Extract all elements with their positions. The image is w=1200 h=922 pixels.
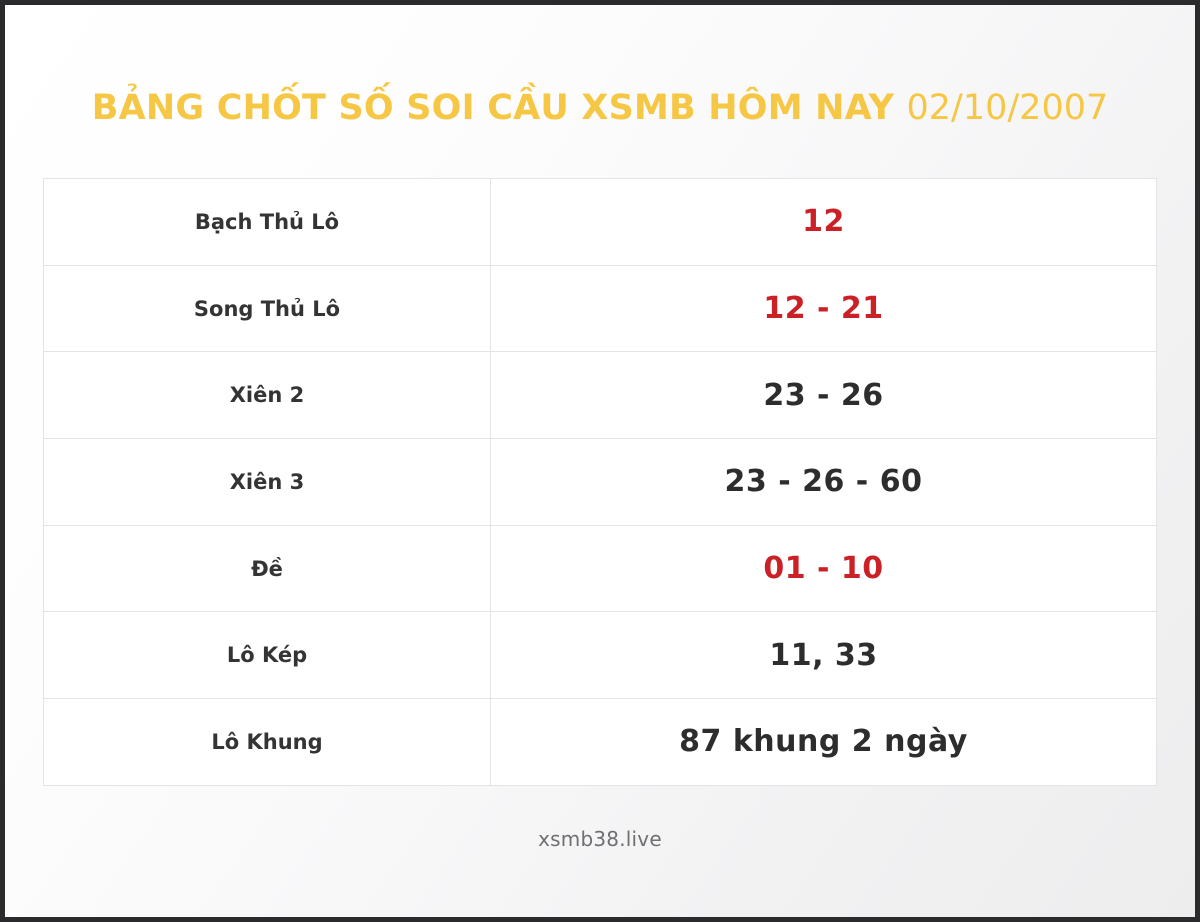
table-row: Xiên 223 - 26 (44, 352, 1157, 439)
row-label: Đề (44, 525, 491, 612)
row-label: Bạch Thủ Lô (44, 179, 491, 266)
table-row: Song Thủ Lô12 - 21 (44, 265, 1157, 352)
site-name: xsmb38.live (538, 827, 662, 851)
prediction-table: Bạch Thủ Lô12Song Thủ Lô12 - 21Xiên 223 … (43, 178, 1157, 786)
row-value: 12 (491, 179, 1157, 266)
page-container: BẢNG CHỐT SỐ SOI CẦU XSMB HÔM NAY 02/10/… (5, 5, 1195, 917)
table-row: Bạch Thủ Lô12 (44, 179, 1157, 266)
row-value: 12 - 21 (491, 265, 1157, 352)
row-value: 87 khung 2 ngày (491, 699, 1157, 786)
row-label: Xiên 2 (44, 352, 491, 439)
row-value: 23 - 26 (491, 352, 1157, 439)
page-title: BẢNG CHỐT SỐ SOI CẦU XSMB HÔM NAY 02/10/… (5, 91, 1195, 126)
row-label: Xiên 3 (44, 439, 491, 526)
footer: xsmb38.live (5, 827, 1195, 851)
table-row: Đề01 - 10 (44, 525, 1157, 612)
row-value: 23 - 26 - 60 (491, 439, 1157, 526)
row-value: 11, 33 (491, 612, 1157, 699)
page-title-text: BẢNG CHỐT SỐ SOI CẦU XSMB HÔM NAY 02/10/… (92, 91, 1109, 126)
table-row: Lô Khung87 khung 2 ngày (44, 699, 1157, 786)
row-label: Lô Khung (44, 699, 491, 786)
row-label: Lô Kép (44, 612, 491, 699)
page-title-date: 02/10/2007 (907, 88, 1109, 128)
page-title-main: BẢNG CHỐT SỐ SOI CẦU XSMB HÔM NAY (92, 88, 894, 128)
table-row: Xiên 323 - 26 - 60 (44, 439, 1157, 526)
prediction-table-body: Bạch Thủ Lô12Song Thủ Lô12 - 21Xiên 223 … (44, 179, 1157, 786)
row-label: Song Thủ Lô (44, 265, 491, 352)
table-row: Lô Kép11, 33 (44, 612, 1157, 699)
row-value: 01 - 10 (491, 525, 1157, 612)
